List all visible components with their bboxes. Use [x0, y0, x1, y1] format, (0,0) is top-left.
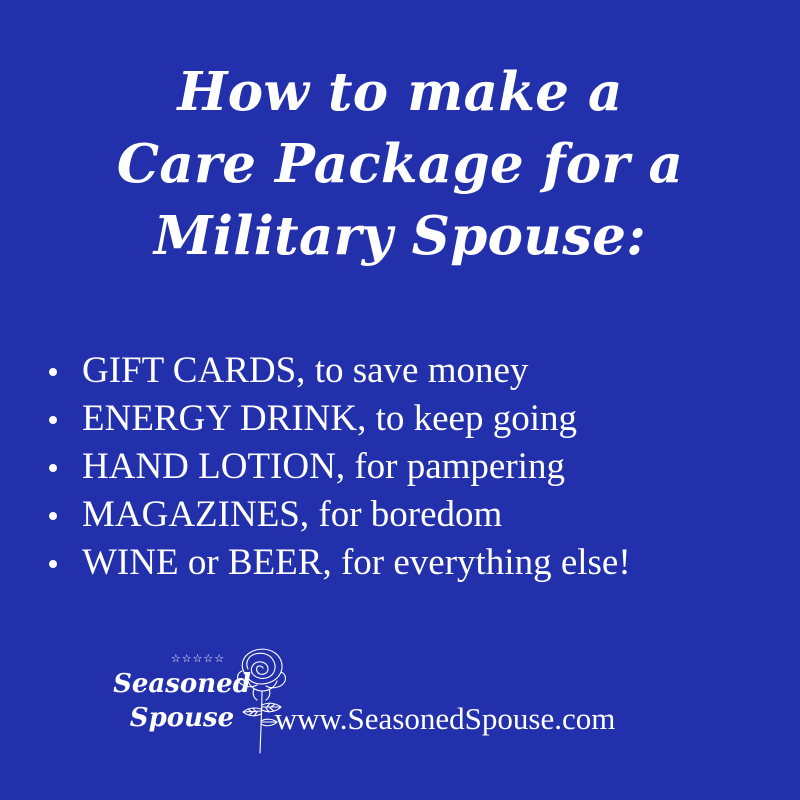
list-item-tail: for pampering: [345, 446, 565, 487]
list-item-head: GIFT CARDS,: [82, 350, 305, 391]
list-item: GIFT CARDS, to save money: [46, 347, 766, 395]
title-line-1: How to make a: [0, 56, 800, 128]
bullet-icon: [49, 560, 57, 568]
title-line-2: Care Package for a: [0, 128, 800, 200]
list-item-head: WINE or BEER,: [82, 542, 332, 583]
list-item-tail: for everything else!: [332, 542, 631, 583]
list-item: HAND LOTION, for pampering: [46, 443, 766, 491]
list-item-tail: to save money: [305, 350, 528, 391]
page-title: How to make a Care Package for a Militar…: [0, 56, 800, 272]
bullet-icon: [49, 464, 57, 472]
website-url[interactable]: www.SeasonedSpouse.com: [0, 700, 800, 738]
poster-canvas: How to make a Care Package for a Militar…: [0, 0, 800, 800]
list-item-head: ENERGY DRINK,: [82, 398, 366, 439]
bullet-icon: [49, 416, 57, 424]
list-item-head: HAND LOTION,: [82, 446, 345, 487]
bullet-icon: [49, 512, 57, 520]
list-item-tail: for boredom: [309, 494, 502, 535]
title-line-3: Military Spouse:: [0, 200, 800, 272]
care-package-item-list: GIFT CARDS, to save money ENERGY DRINK, …: [46, 347, 766, 587]
list-item-head: MAGAZINES,: [82, 494, 309, 535]
list-item: MAGAZINES, for boredom: [46, 491, 766, 539]
list-item: WINE or BEER, for everything else!: [46, 539, 766, 587]
bullet-icon: [49, 368, 57, 376]
list-item-tail: to keep going: [366, 398, 577, 439]
list-item: ENERGY DRINK, to keep going: [46, 395, 766, 443]
